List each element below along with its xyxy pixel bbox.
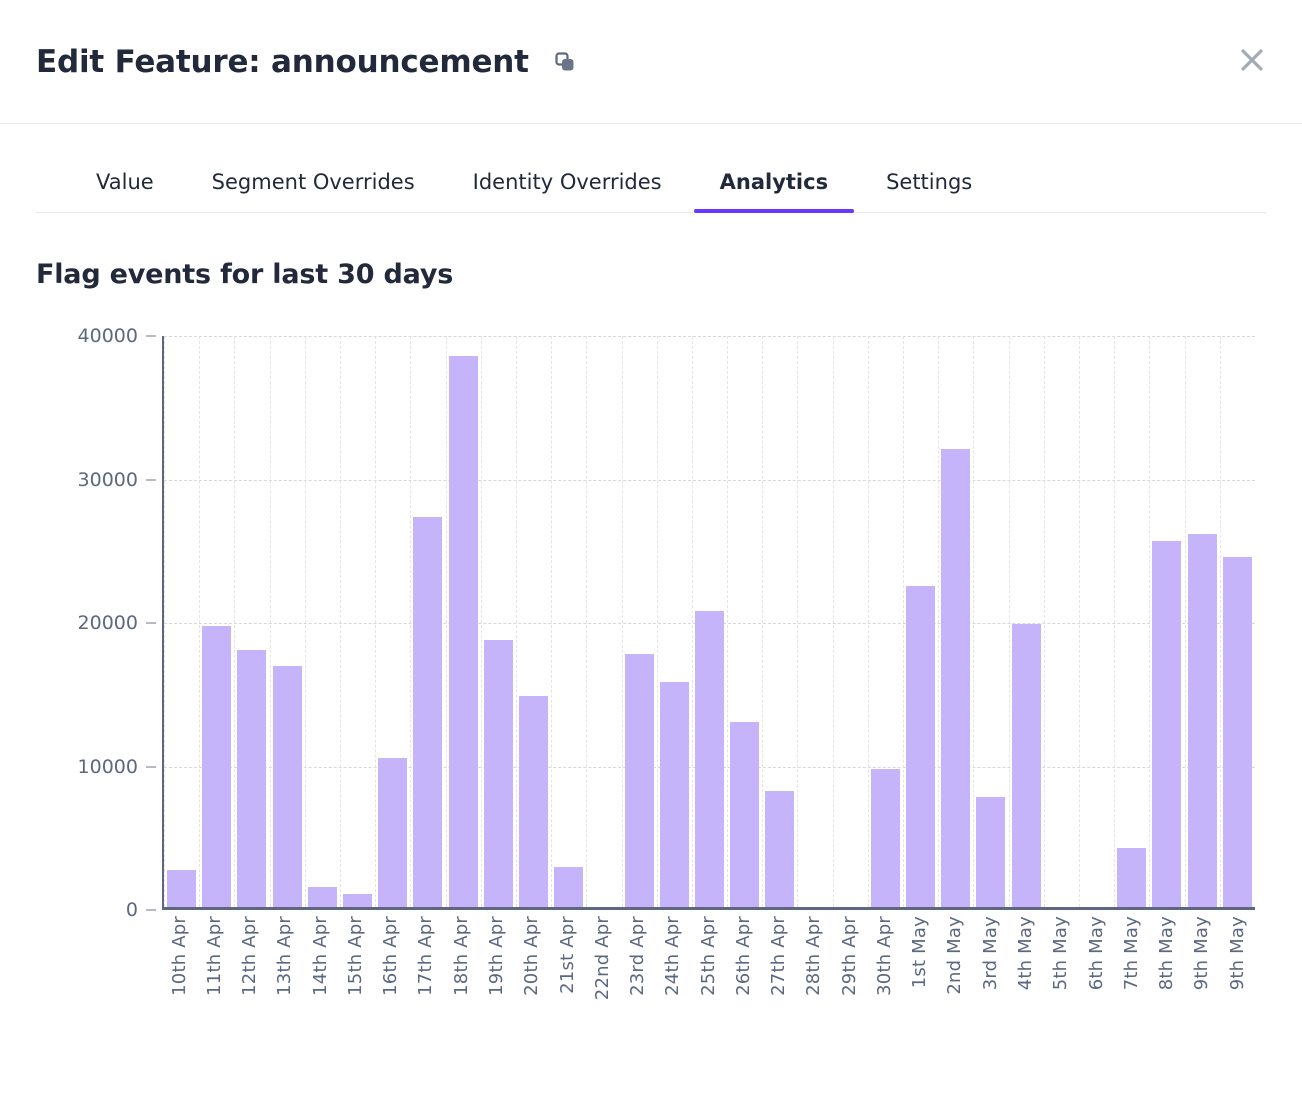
bar[interactable]	[554, 867, 583, 907]
bar-slot	[199, 336, 234, 907]
bar[interactable]	[695, 611, 724, 907]
plot-area	[162, 336, 1255, 910]
x-tick-slot: 8th May	[1149, 916, 1184, 1036]
x-tick-label: 28th Apr	[805, 916, 823, 996]
bar[interactable]	[730, 722, 759, 907]
bar[interactable]	[343, 894, 372, 907]
bar[interactable]	[308, 887, 337, 907]
tab-value[interactable]: Value	[96, 160, 154, 212]
x-tick-slot: 5th May	[1044, 916, 1079, 1036]
bar-slot	[762, 336, 797, 907]
bar-slot	[234, 336, 269, 907]
bar-slot	[692, 336, 727, 907]
copy-icon	[554, 51, 576, 73]
x-tick-label: 8th May	[1158, 916, 1176, 990]
bar-slot	[1044, 336, 1079, 907]
x-tick-slot: 15th Apr	[338, 916, 373, 1036]
x-tick-label: 10th Apr	[171, 916, 189, 996]
x-tick-label: 2nd May	[946, 916, 964, 995]
x-tick-label: 23rd Apr	[629, 916, 647, 996]
bar-slot	[481, 336, 516, 907]
tab-analytics[interactable]: Analytics	[720, 160, 828, 212]
x-tick-label: 5th May	[1052, 916, 1070, 990]
tab-settings[interactable]: Settings	[886, 160, 972, 212]
y-tick-mark	[146, 336, 156, 337]
x-tick-label: 17th Apr	[417, 916, 435, 996]
x-tick-label: 27th Apr	[770, 916, 788, 996]
tab-list: ValueSegment OverridesIdentity Overrides…	[36, 160, 1266, 213]
bar-slot	[1149, 336, 1184, 907]
x-tick-slot: 10th Apr	[162, 916, 197, 1036]
bar[interactable]	[449, 356, 478, 907]
bar[interactable]	[906, 586, 935, 907]
x-tick-slot: 9th May	[1220, 916, 1255, 1036]
bar[interactable]	[237, 650, 266, 907]
bar-slot	[164, 336, 199, 907]
bar[interactable]	[1117, 848, 1146, 907]
x-tick-label: 30th Apr	[876, 916, 894, 996]
x-tick-label: 4th May	[1017, 916, 1035, 990]
x-tick-label: 9th May	[1193, 916, 1211, 990]
bar[interactable]	[660, 682, 689, 907]
x-tick-slot: 19th Apr	[479, 916, 514, 1036]
bar[interactable]	[765, 791, 794, 907]
close-icon	[1238, 46, 1266, 77]
y-tick-mark	[146, 910, 156, 911]
x-tick-label: 3rd May	[982, 916, 1000, 990]
y-tick-mark	[146, 623, 156, 624]
x-tick-label: 13th Apr	[276, 916, 294, 996]
x-tick-label: 6th May	[1088, 916, 1106, 990]
x-tick-label: 19th Apr	[488, 916, 506, 996]
bar-slot	[797, 336, 832, 907]
y-axis: 010000200003000040000	[36, 336, 156, 910]
x-tick-label: 24th Apr	[664, 916, 682, 996]
bar-slot	[973, 336, 1008, 907]
x-axis: 10th Apr11th Apr12th Apr13th Apr14th Apr…	[162, 916, 1255, 1036]
y-tick-label: 10000	[78, 756, 138, 778]
bar[interactable]	[1012, 624, 1041, 907]
x-tick-slot: 25th Apr	[691, 916, 726, 1036]
bar-slot	[1184, 336, 1219, 907]
bar[interactable]	[1152, 541, 1181, 907]
x-tick-slot: 9th May	[1185, 916, 1220, 1036]
x-tick-label: 29th Apr	[841, 916, 859, 996]
x-tick-slot: 13th Apr	[268, 916, 303, 1036]
x-tick-label: 1st May	[911, 916, 929, 988]
x-tick-label: 16th Apr	[382, 916, 400, 996]
x-tick-slot: 2nd May	[938, 916, 973, 1036]
modal-header: Edit Feature: announcement	[0, 0, 1302, 124]
bar-slot	[657, 336, 692, 907]
x-tick-slot: 4th May	[1008, 916, 1043, 1036]
bar[interactable]	[413, 517, 442, 907]
y-tick-mark	[146, 766, 156, 767]
bar[interactable]	[378, 758, 407, 907]
x-tick-slot: 3rd May	[973, 916, 1008, 1036]
x-tick-label: 7th May	[1123, 916, 1141, 990]
y-tick-mark	[146, 479, 156, 480]
bar-slot	[621, 336, 656, 907]
x-tick-slot: 21st Apr	[550, 916, 585, 1036]
bar[interactable]	[519, 696, 548, 907]
bar[interactable]	[625, 654, 654, 907]
bar-slot	[938, 336, 973, 907]
x-tick-slot: 27th Apr	[762, 916, 797, 1036]
bar[interactable]	[167, 870, 196, 907]
bar[interactable]	[202, 626, 231, 907]
y-tick-label: 40000	[78, 325, 138, 347]
bar-slot	[551, 336, 586, 907]
x-tick-label: 26th Apr	[735, 916, 753, 996]
bar-slot	[410, 336, 445, 907]
x-tick-slot: 29th Apr	[832, 916, 867, 1036]
tab-identity-overrides[interactable]: Identity Overrides	[473, 160, 662, 212]
x-tick-slot: 18th Apr	[444, 916, 479, 1036]
close-button[interactable]	[1232, 42, 1272, 82]
bar[interactable]	[941, 449, 970, 907]
tab-segment-overrides[interactable]: Segment Overrides	[212, 160, 415, 212]
x-tick-slot: 20th Apr	[515, 916, 550, 1036]
x-tick-slot: 24th Apr	[656, 916, 691, 1036]
y-tick-label: 0	[126, 899, 138, 921]
bar[interactable]	[1223, 557, 1252, 907]
x-tick-slot: 17th Apr	[409, 916, 444, 1036]
bar-slot	[833, 336, 868, 907]
analytics-panel: Flag events for last 30 days 01000020000…	[0, 259, 1302, 1036]
x-tick-label: 18th Apr	[453, 916, 471, 996]
tab-bar: ValueSegment OverridesIdentity Overrides…	[0, 160, 1302, 213]
x-tick-slot: 16th Apr	[374, 916, 409, 1036]
bar-slot	[1079, 336, 1114, 907]
bar-slot	[868, 336, 903, 907]
x-tick-slot: 7th May	[1114, 916, 1149, 1036]
bar-slot	[727, 336, 762, 907]
x-tick-slot: 12th Apr	[233, 916, 268, 1036]
chart-title: Flag events for last 30 days	[36, 259, 1266, 290]
bar[interactable]	[871, 769, 900, 907]
x-tick-slot: 1st May	[903, 916, 938, 1036]
bar-slot	[586, 336, 621, 907]
x-tick-label: 15th Apr	[347, 916, 365, 996]
x-tick-label: 11th Apr	[206, 916, 224, 996]
bar-slot	[903, 336, 938, 907]
x-tick-label: 9th May	[1229, 916, 1247, 990]
bar-slot	[270, 336, 305, 907]
y-tick-label: 20000	[78, 612, 138, 634]
bar[interactable]	[273, 666, 302, 907]
x-tick-slot: 23rd Apr	[620, 916, 655, 1036]
x-tick-slot: 30th Apr	[867, 916, 902, 1036]
bar-slot	[340, 336, 375, 907]
bar-slot	[516, 336, 551, 907]
flag-events-bar-chart: 010000200003000040000 10th Apr11th Apr12…	[36, 336, 1266, 1036]
page-title: Edit Feature: announcement	[36, 44, 529, 80]
bar-slot	[375, 336, 410, 907]
bar-slot	[1114, 336, 1149, 907]
x-tick-label: 14th Apr	[312, 916, 330, 996]
x-tick-label: 20th Apr	[523, 916, 541, 996]
x-tick-slot: 28th Apr	[797, 916, 832, 1036]
x-tick-slot: 6th May	[1079, 916, 1114, 1036]
x-tick-label: 12th Apr	[241, 916, 259, 996]
bar-slot	[1220, 336, 1255, 907]
x-tick-label: 22nd Apr	[594, 916, 612, 1000]
bar-series	[164, 336, 1255, 907]
x-tick-label: 21st Apr	[559, 916, 577, 994]
bar-slot	[1009, 336, 1044, 907]
x-tick-slot: 11th Apr	[197, 916, 232, 1036]
bar-slot	[305, 336, 340, 907]
bar[interactable]	[484, 640, 513, 907]
bar[interactable]	[1188, 534, 1217, 907]
bar[interactable]	[976, 797, 1005, 907]
x-tick-slot: 14th Apr	[303, 916, 338, 1036]
x-tick-slot: 22nd Apr	[585, 916, 620, 1036]
copy-icon-button[interactable]	[551, 48, 579, 76]
y-tick-label: 30000	[78, 469, 138, 491]
x-tick-label: 25th Apr	[700, 916, 718, 996]
bar-slot	[446, 336, 481, 907]
x-tick-slot: 26th Apr	[726, 916, 761, 1036]
